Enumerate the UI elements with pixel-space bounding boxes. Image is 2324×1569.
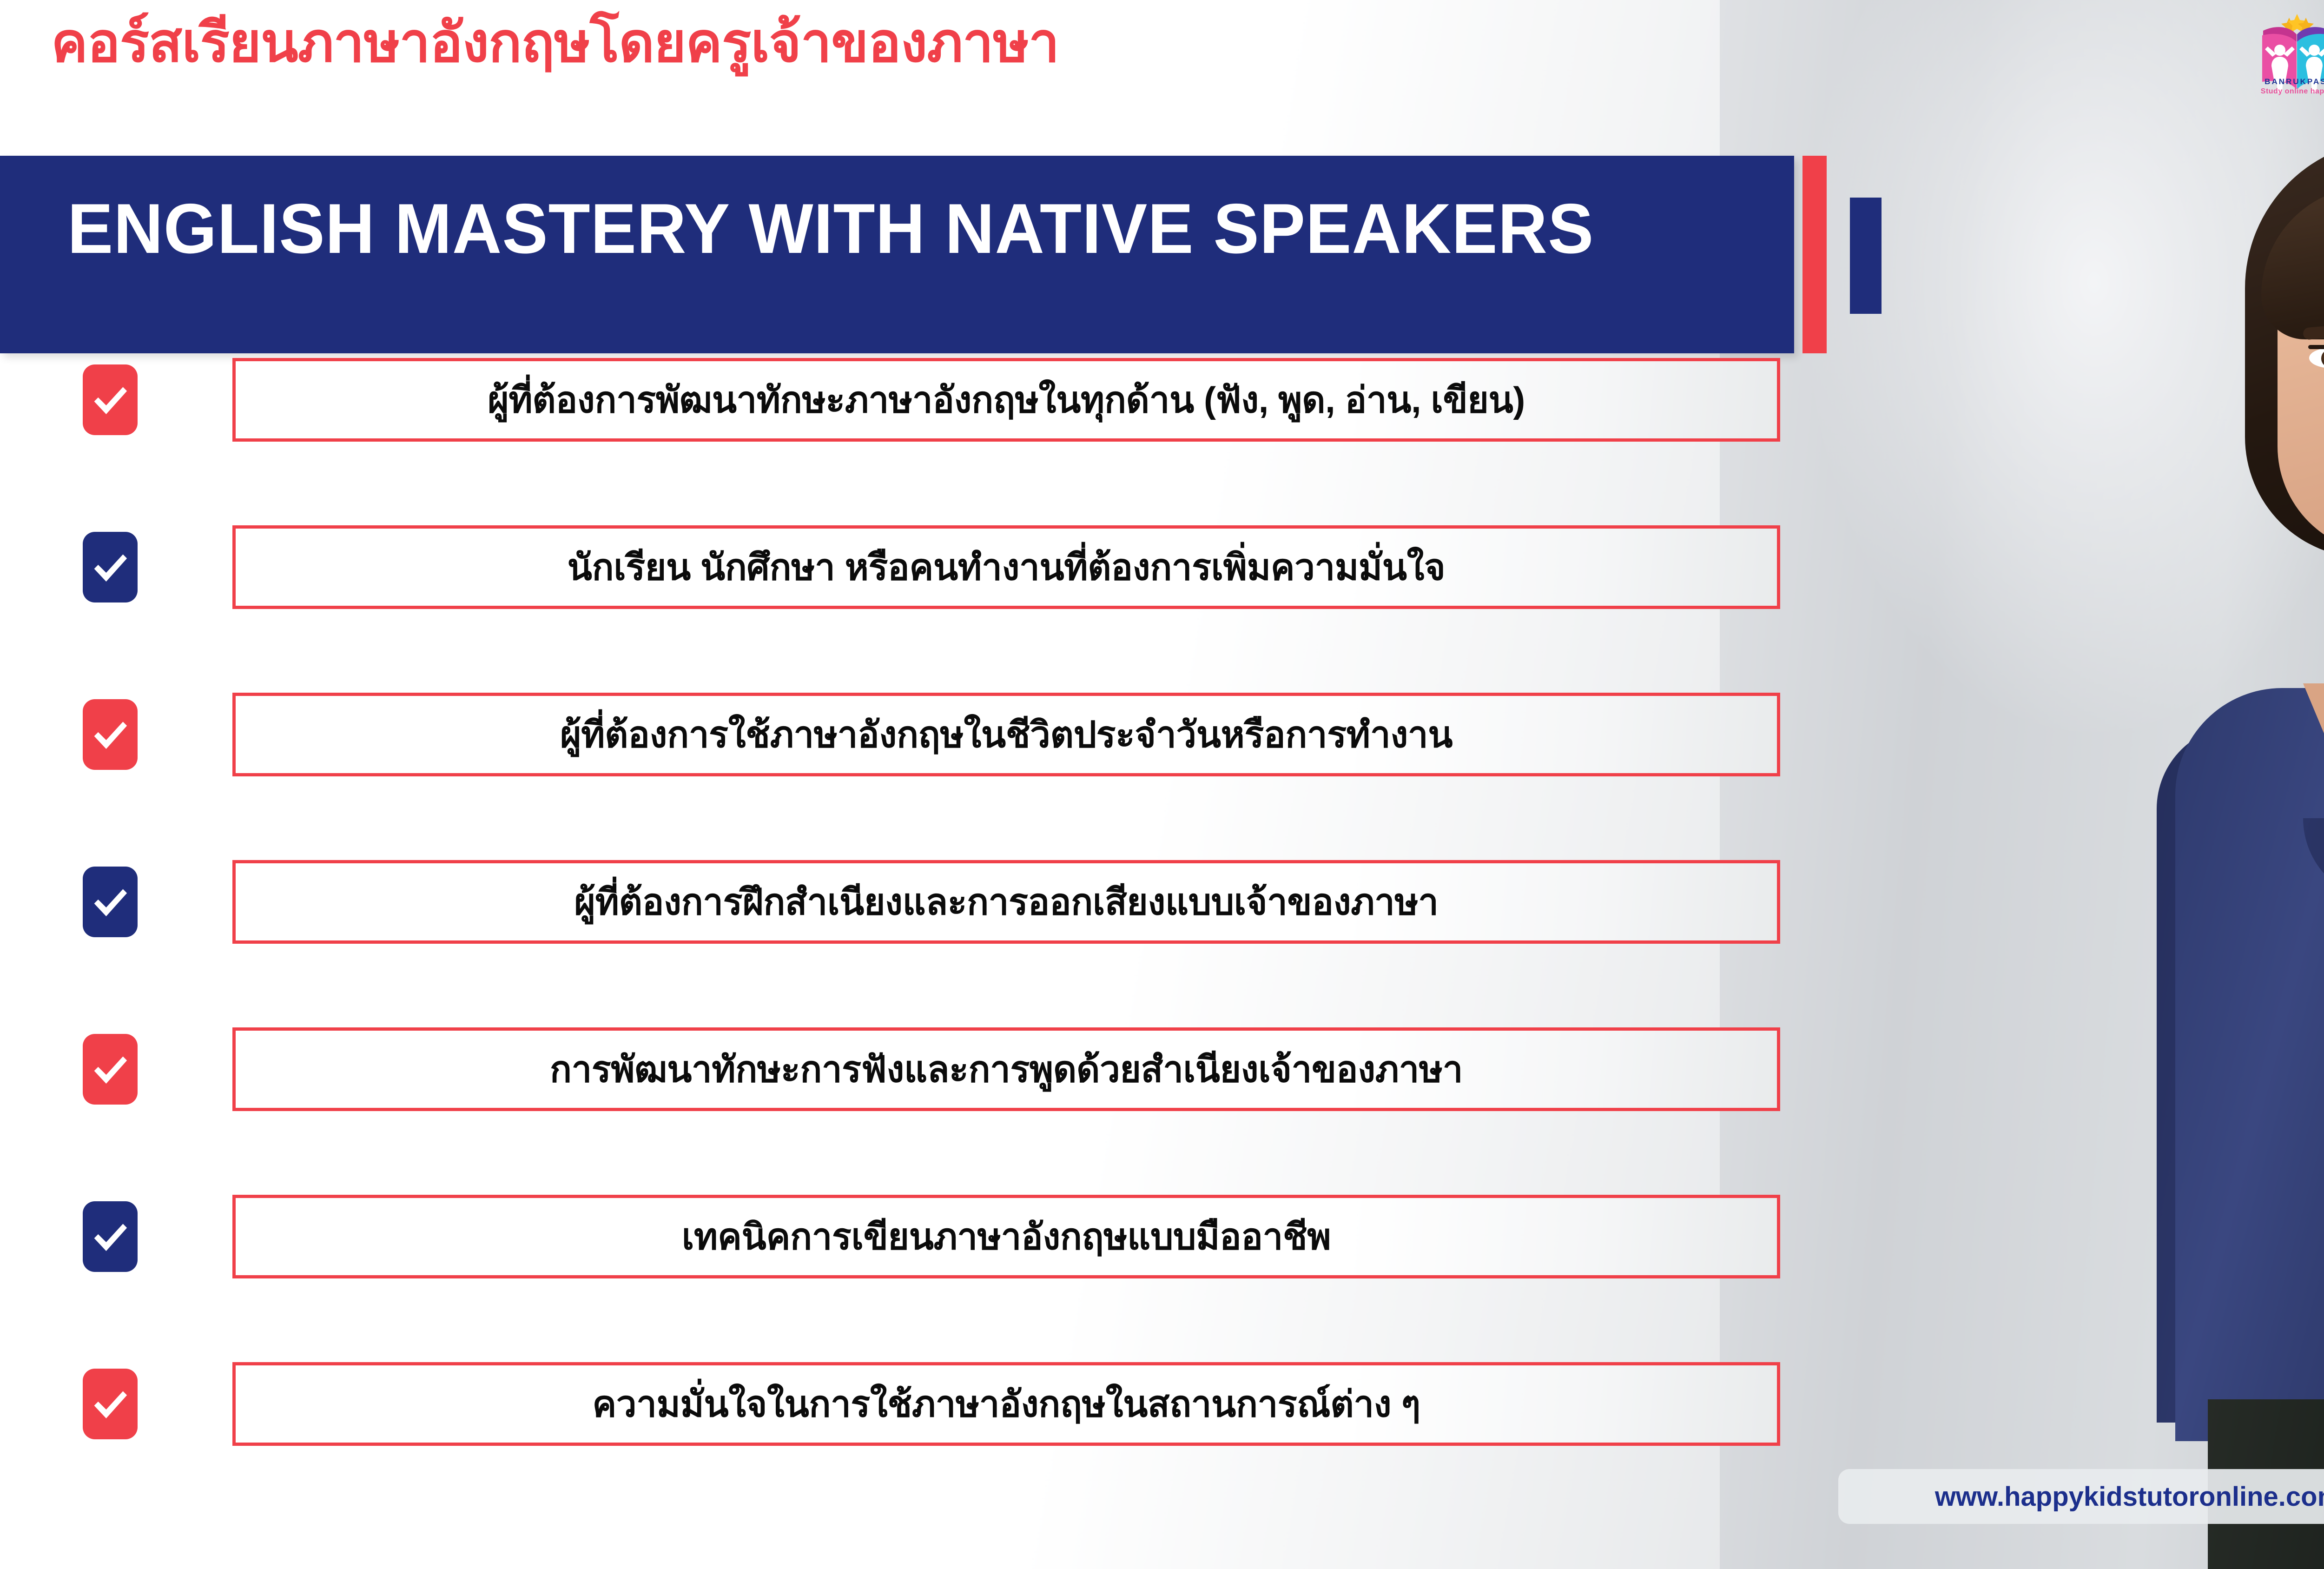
checkmark-icon xyxy=(83,532,138,602)
list-item-box: ผู้ที่ต้องการพัฒนาทักษะภาษาอังกฤษในทุกด้… xyxy=(232,358,1780,442)
checkmark-icon xyxy=(83,1369,138,1439)
checkmark-icon xyxy=(83,364,138,435)
list-item-box: การพัฒนาทักษะการฟังและการพูดด้วยสำเนียงเ… xyxy=(232,1027,1780,1111)
blouse xyxy=(2175,688,2324,1441)
list-item[interactable]: เทคนิคการเขียนภาษาอังกฤษแบบมืออาชีพ xyxy=(0,1195,1813,1278)
checkmark-icon xyxy=(83,867,138,937)
banner-headline-bar: ENGLISH MASTERY WITH NATIVE SPEAKERS xyxy=(0,156,1794,353)
instructor-photo xyxy=(1803,0,2324,1569)
eyelash-left xyxy=(2308,345,2324,349)
website-url-pill[interactable]: www.happykidstutoronline.com xyxy=(1838,1469,2324,1524)
list-item-label: ผู้ที่ต้องการใช้ภาษาอังกฤษในชีวิตประจำวั… xyxy=(560,715,1452,755)
banner-title: ENGLISH MASTERY WITH NATIVE SPEAKERS xyxy=(67,192,1594,265)
list-item-label: เทคนิคการเขียนภาษาอังกฤษแบบมืออาชีพ xyxy=(682,1217,1331,1257)
checklist: ผู้ที่ต้องการพัฒนาทักษะภาษาอังกฤษในทุกด้… xyxy=(0,358,1813,1567)
checkmark-icon xyxy=(83,1034,138,1105)
list-item-label: การพัฒนาทักษะการฟังและการพูดด้วยสำเนียงเ… xyxy=(550,1049,1463,1089)
list-item-box: ผู้ที่ต้องการฝึกสำเนียงและการออกเสียงแบบ… xyxy=(232,860,1780,944)
list-item-label: นักเรียน นักศึกษา หรือคนทำงานที่ต้องการเ… xyxy=(568,547,1446,587)
list-item-box: นักเรียน นักศึกษา หรือคนทำงานที่ต้องการเ… xyxy=(232,525,1780,609)
checkmark-icon xyxy=(83,699,138,770)
list-item[interactable]: ผู้ที่ต้องการใช้ภาษาอังกฤษในชีวิตประจำวั… xyxy=(0,693,1813,776)
poster-canvas: คอร์สเรียนภาษาอังกฤษโดยครูเจ้าของภาษา xyxy=(0,0,2324,1569)
list-item[interactable]: นักเรียน นักศึกษา หรือคนทำงานที่ต้องการเ… xyxy=(0,525,1813,609)
list-item[interactable]: ผู้ที่ต้องการพัฒนาทักษะภาษาอังกฤษในทุกด้… xyxy=(0,358,1813,442)
list-item[interactable]: ผู้ที่ต้องการฝึกสำเนียงและการออกเสียงแบบ… xyxy=(0,860,1813,944)
list-item[interactable]: การพัฒนาทักษะการฟังและการพูดด้วยสำเนียงเ… xyxy=(0,1027,1813,1111)
website-url-text: www.happykidstutoronline.com xyxy=(1935,1481,2324,1512)
list-item-label: ความมั่นใจในการใช้ภาษาอังกฤษในสถานการณ์ต… xyxy=(592,1384,1420,1424)
page-title: คอร์สเรียนภาษาอังกฤษโดยครูเจ้าของภาษา xyxy=(51,13,1771,73)
list-item-box: ความมั่นใจในการใช้ภาษาอังกฤษในสถานการณ์ต… xyxy=(232,1362,1780,1446)
list-item-label: ผู้ที่ต้องการพัฒนาทักษะภาษาอังกฤษในทุกด้… xyxy=(488,380,1525,420)
list-item-box: เทคนิคการเขียนภาษาอังกฤษแบบมืออาชีพ xyxy=(232,1195,1780,1278)
list-item[interactable]: ความมั่นใจในการใช้ภาษาอังกฤษในสถานการณ์ต… xyxy=(0,1362,1813,1446)
list-item-box: ผู้ที่ต้องการใช้ภาษาอังกฤษในชีวิตประจำวั… xyxy=(232,693,1780,776)
checkmark-icon xyxy=(83,1201,138,1272)
list-item-label: ผู้ที่ต้องการฝึกสำเนียงและการออกเสียงแบบ… xyxy=(574,882,1438,922)
